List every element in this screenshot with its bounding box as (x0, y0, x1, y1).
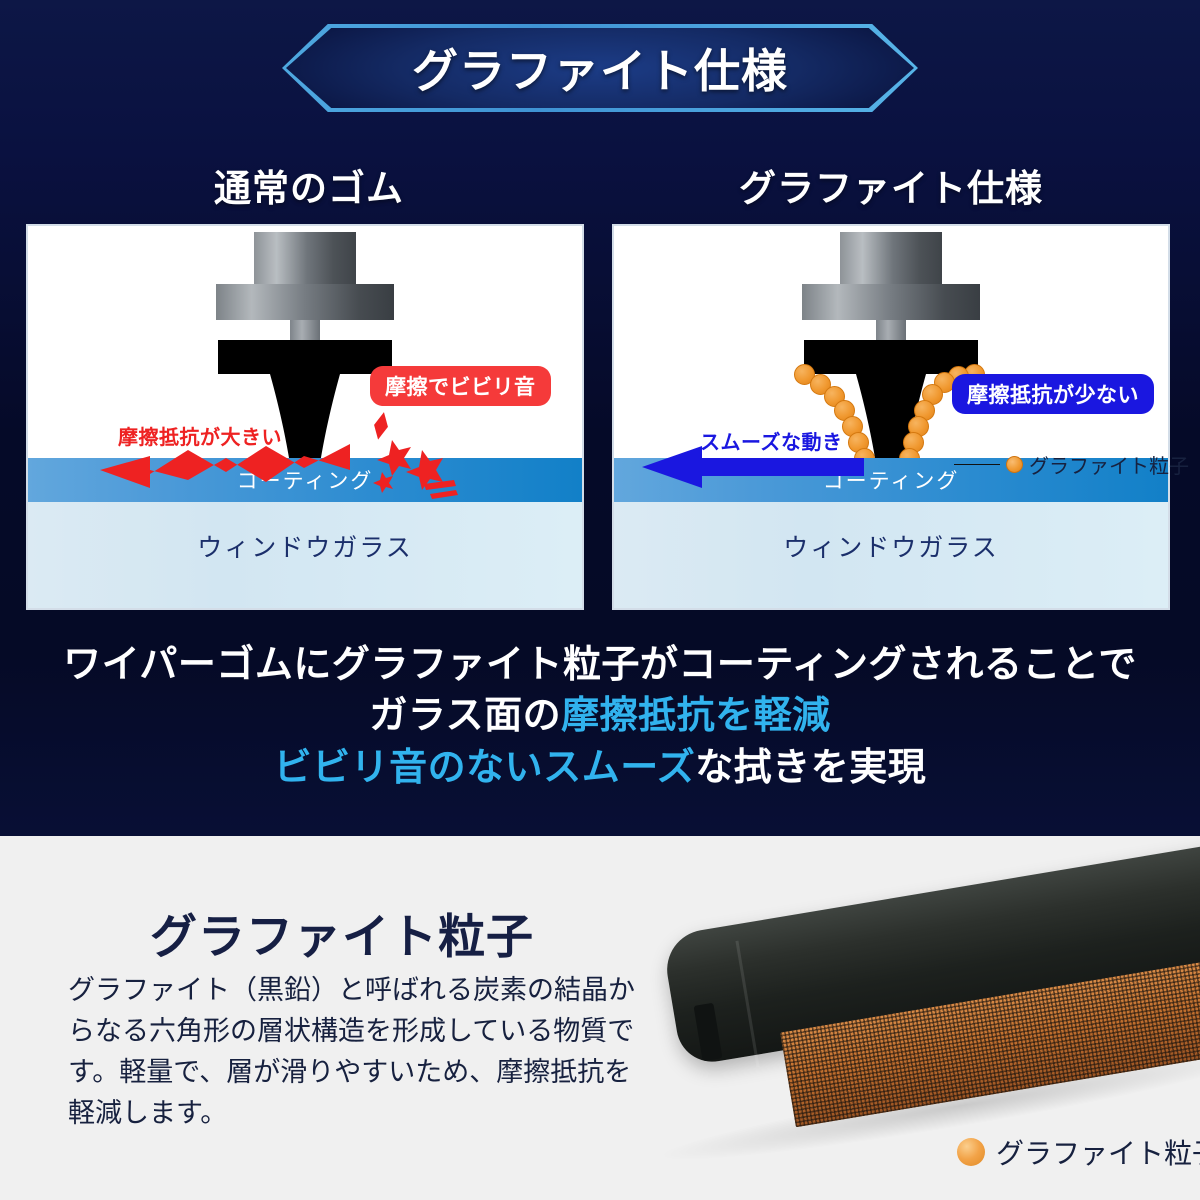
vibration-spark-icon (352, 410, 462, 505)
graphite-rubber-diagram: コーティング ウィンドウガラス (612, 224, 1170, 610)
metal-cap (254, 232, 356, 284)
graphite-particle-legend-dot-icon (957, 1138, 985, 1166)
title-banner: グラファイト仕様 (282, 24, 918, 112)
callout-label: グラファイト粒子 (1029, 450, 1189, 479)
friction-noise-badge: 摩擦でビビリ音 (370, 366, 551, 406)
metal-flange (216, 284, 394, 320)
photo-legend-label: グラファイト粒子 (996, 1132, 1200, 1172)
high-friction-arrow-icon (98, 438, 350, 495)
graphite-detail-section: グラファイト粒子 グラファイト（黒鉛）と呼ばれる炭素の結晶からなる六角形の層状構… (0, 836, 1200, 1200)
summary-line-3: ビビリ音のないスムーズな拭きを実現 (0, 743, 1200, 794)
smooth-motion-arrow-icon (640, 446, 864, 493)
infographic-root: グラファイト仕様 通常のゴム コーティング ウィンドウガラス (0, 0, 1200, 1200)
metal-neck (876, 320, 906, 342)
detail-heading: グラファイト粒子 (150, 898, 534, 967)
left-panel-heading: 通常のゴム (28, 158, 590, 212)
summary-text: ワイパーゴムにグラファイト粒子がコーティングされることで ガラス面の摩擦抵抗を軽… (0, 640, 1200, 794)
summary-line-3-highlight-1: ビビリ音のない (274, 747, 544, 789)
summary-line-3-post: な拭きを実現 (695, 747, 926, 789)
photo-legend: グラファイト粒子 (957, 1132, 1200, 1172)
low-friction-badge: 摩擦抵抗が少ない (952, 374, 1154, 414)
right-panel-heading: グラファイト仕様 (610, 158, 1172, 212)
summary-line-3-highlight-2: スムーズ (543, 747, 695, 789)
glass-label-left: ウィンドウガラス (197, 528, 413, 564)
metal-cap (840, 232, 942, 284)
glass-layer-left: ウィンドウガラス (28, 502, 582, 608)
graphite-particle-callout: グラファイト粒子 (954, 450, 1189, 479)
summary-line-1: ワイパーゴムにグラファイト粒子がコーティングされることで (0, 640, 1200, 691)
normal-rubber-diagram: コーティング ウィンドウガラス (26, 224, 584, 610)
metal-neck (290, 320, 320, 342)
glass-label-right: ウィンドウガラス (783, 528, 999, 564)
summary-line-2-pre: ガラス面の (369, 695, 561, 737)
product-photo: グラファイト粒子 (620, 836, 1200, 1200)
callout-leader-line (954, 464, 1000, 465)
glass-layer-right: ウィンドウガラス (614, 502, 1168, 608)
summary-line-2: ガラス面の摩擦抵抗を軽減 (0, 691, 1200, 742)
graphite-particle-dot-icon (1006, 456, 1023, 473)
page-title: グラファイト仕様 (282, 24, 918, 112)
detail-body-text: グラファイト（黒鉛）と呼ばれる炭素の結晶からなる六角形の層状構造を形成している物… (68, 970, 644, 1134)
metal-flange (802, 284, 980, 320)
summary-line-2-highlight: 摩擦抵抗を軽減 (561, 695, 831, 737)
comparison-section: グラファイト仕様 通常のゴム コーティング ウィンドウガラス (0, 0, 1200, 836)
